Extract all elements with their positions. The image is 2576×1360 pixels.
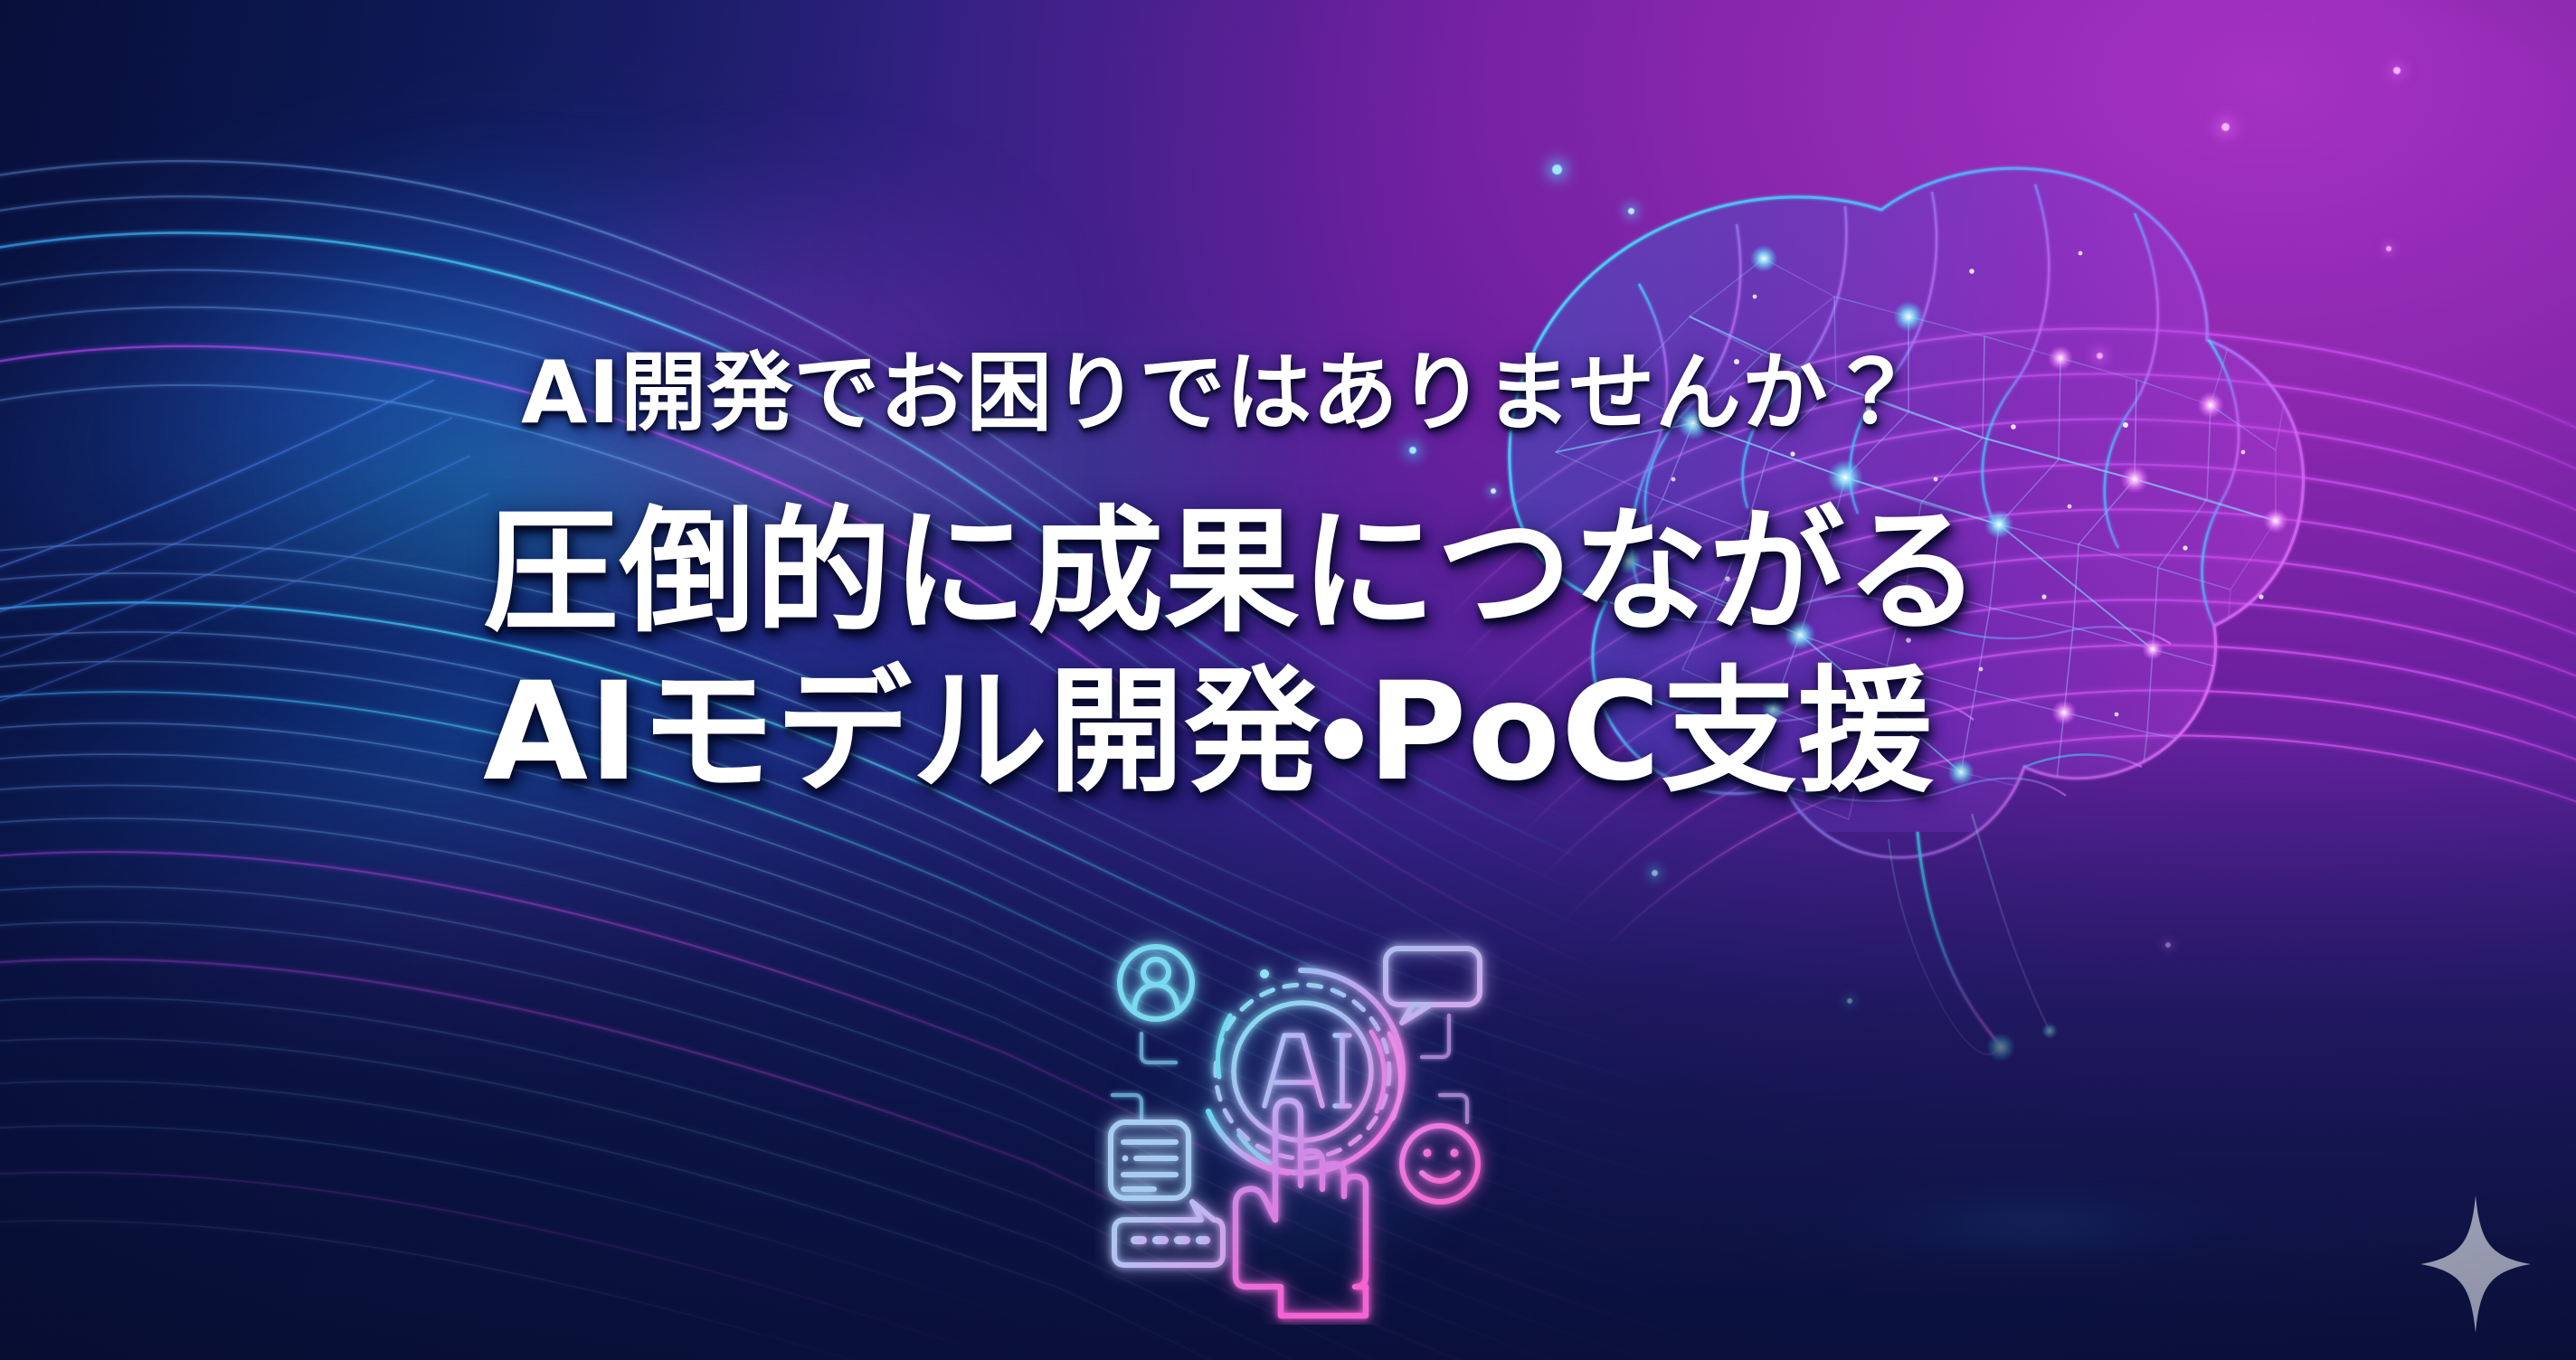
hero-banner: AI開発でお困りではありませんか？ 圧倒的に成果につながる AIモデル開発・Po… — [0, 0, 2576, 1360]
film-grain-overlay — [0, 0, 2576, 1360]
